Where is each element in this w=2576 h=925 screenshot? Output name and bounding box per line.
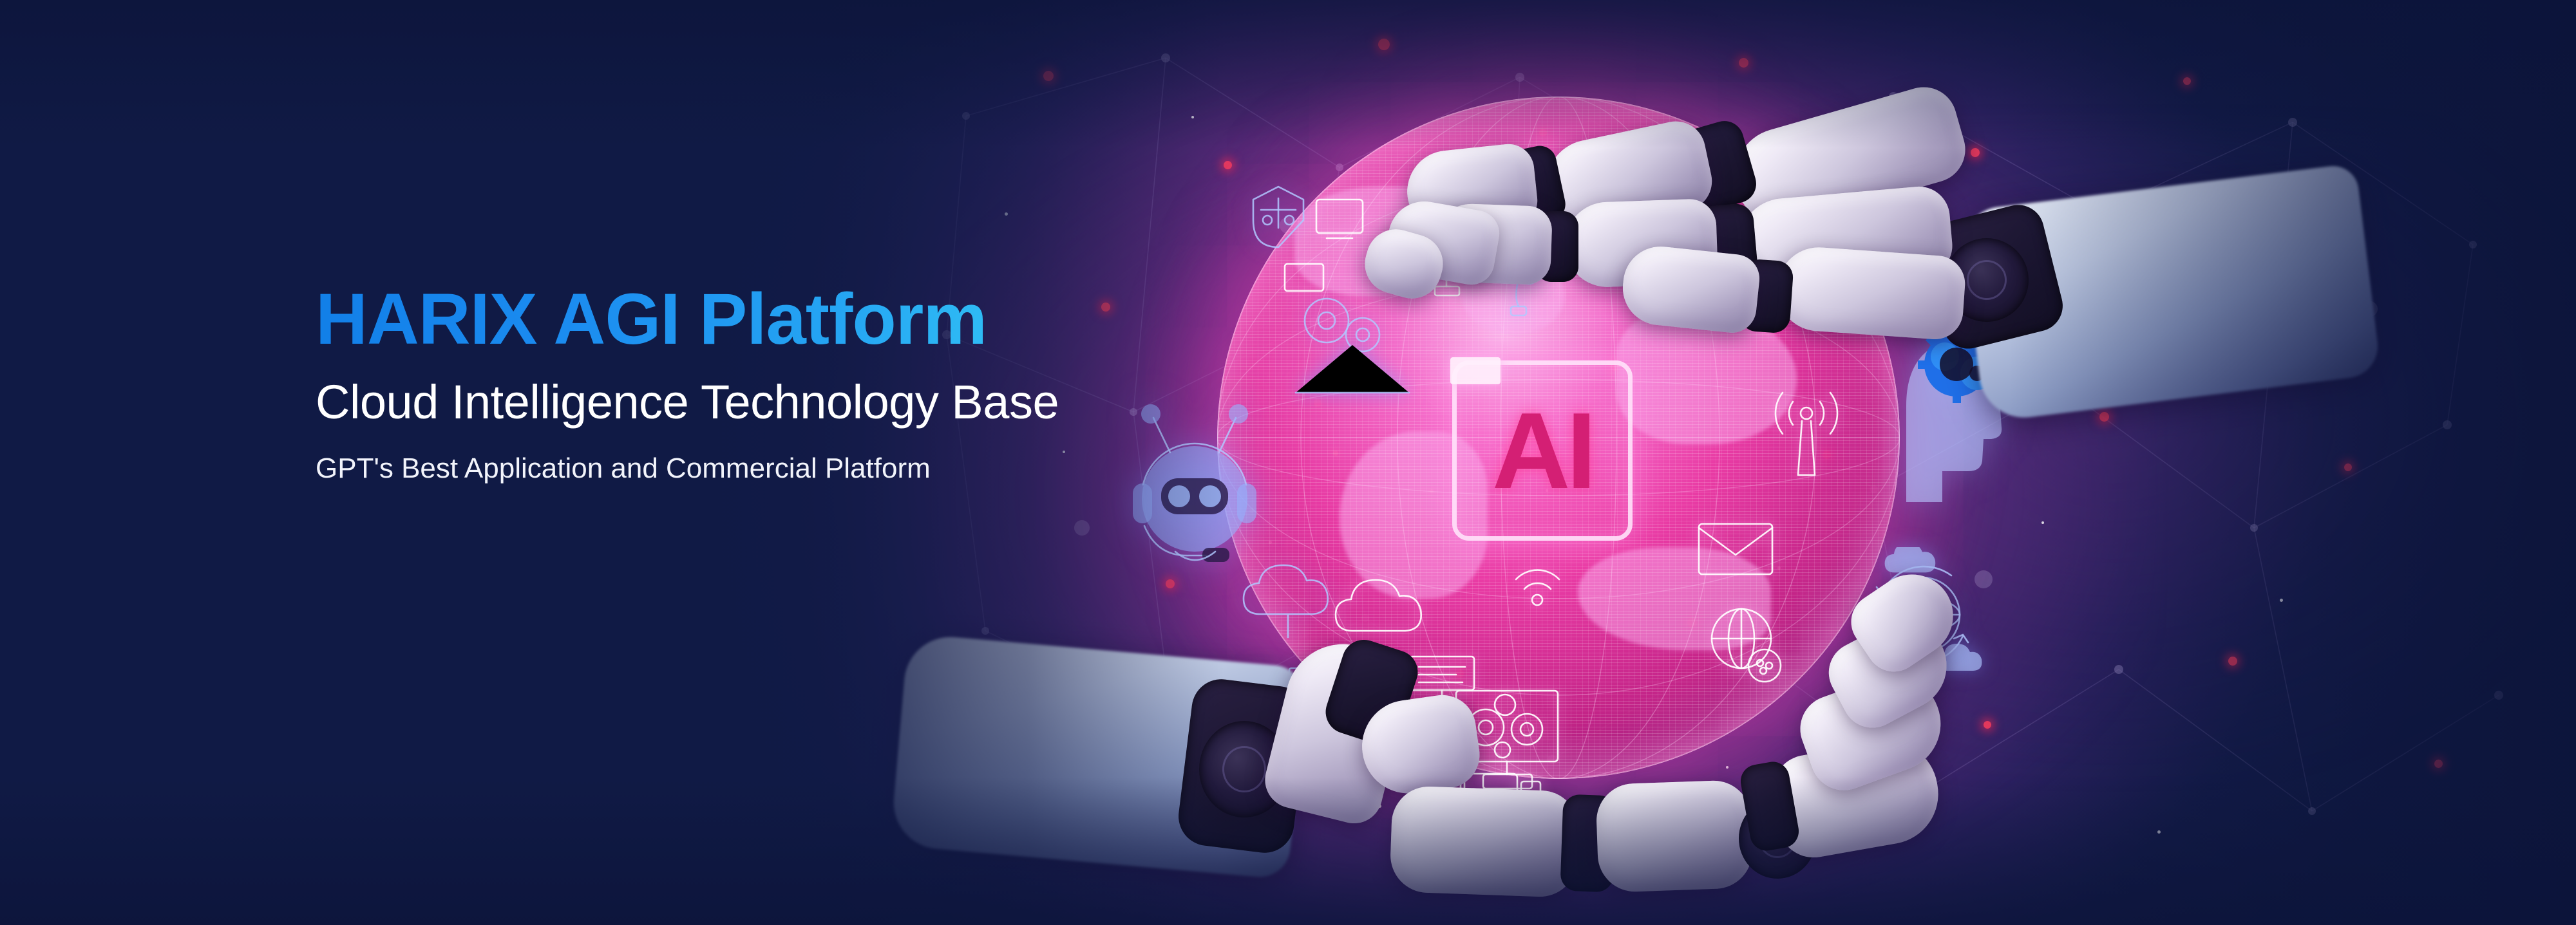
hero-banner: AI [0,0,2576,925]
hero-copy: HARIX AGI Platform Cloud Intelligence Te… [316,283,1217,484]
page-tagline: GPT's Best Application and Commercial Pl… [316,453,1217,484]
page-title: HARIX AGI Platform [316,283,1217,355]
page-subtitle: Cloud Intelligence Technology Base [316,377,1217,427]
